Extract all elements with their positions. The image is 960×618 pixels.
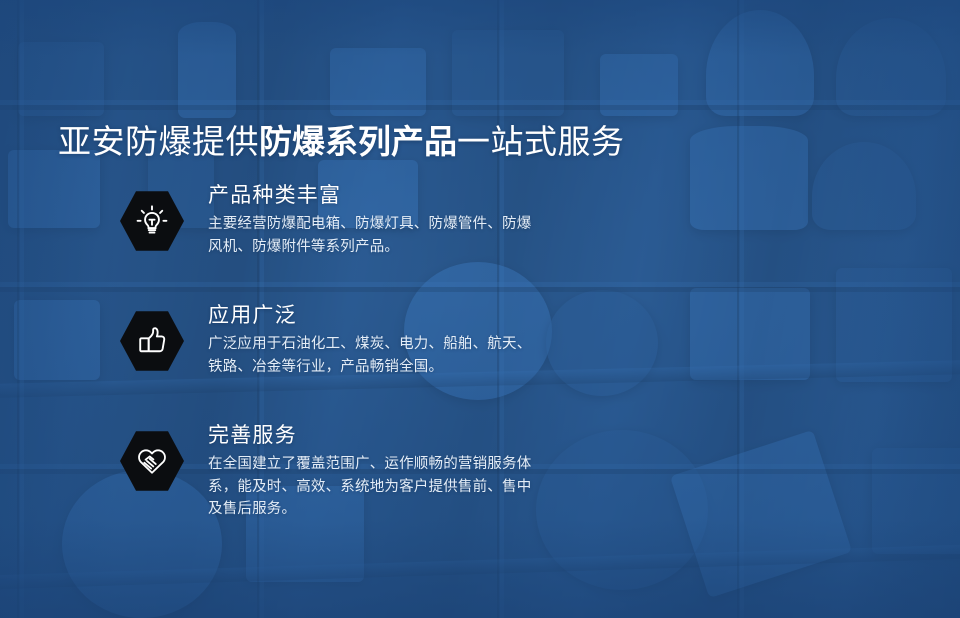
feature-description: 主要经营防爆配电箱、防爆灯具、防爆管件、防爆风机、防爆附件等系列产品。 — [208, 213, 538, 258]
banner-headline: 亚安防爆提供防爆系列产品一站式服务 — [58, 120, 625, 164]
hexagon-badge — [120, 310, 184, 372]
feature-icon-badge — [118, 298, 186, 368]
feature-description: 广泛应用于石油化工、煤炭、电力、船舶、航天、铁路、冶金等行业，产品畅销全国。 — [208, 333, 538, 378]
feature-description: 在全国建立了覆盖范围广、运作顺畅的营销服务体系，能及时、高效、系统地为客户提供售… — [208, 453, 538, 521]
feature-item-product-variety: 产品种类丰富 主要经营防爆配电箱、防爆灯具、防爆管件、防爆风机、防爆附件等系列产… — [118, 178, 588, 258]
feature-icon-badge — [118, 178, 186, 248]
feature-text: 产品种类丰富 主要经营防爆配电箱、防爆灯具、防爆管件、防爆风机、防爆附件等系列产… — [208, 178, 538, 258]
hexagon-badge — [120, 430, 184, 492]
hexagon-badge — [120, 190, 184, 252]
headline-emphasis: 防爆系列产品 — [259, 123, 457, 160]
thumbs-up-icon — [133, 322, 171, 360]
headline-lead: 亚安防爆提供 — [58, 123, 259, 160]
feature-item-wide-application: 应用广泛 广泛应用于石油化工、煤炭、电力、船舶、航天、铁路、冶金等行业，产品畅销… — [118, 298, 588, 378]
feature-title: 产品种类丰富 — [208, 182, 538, 209]
feature-title: 应用广泛 — [208, 302, 538, 329]
feature-text: 完善服务 在全国建立了覆盖范围广、运作顺畅的营销服务体系，能及时、高效、系统地为… — [208, 418, 538, 521]
feature-icon-badge — [118, 418, 186, 488]
lightbulb-icon — [133, 202, 171, 240]
feature-text: 应用广泛 广泛应用于石油化工、煤炭、电力、船舶、航天、铁路、冶金等行业，产品畅销… — [208, 298, 538, 378]
feature-title: 完善服务 — [208, 422, 538, 449]
feature-item-complete-service: 完善服务 在全国建立了覆盖范围广、运作顺畅的营销服务体系，能及时、高效、系统地为… — [118, 418, 588, 521]
banner-content: 亚安防爆提供防爆系列产品一站式服务 产品种类丰富 — [0, 0, 960, 618]
heart-handshake-icon — [133, 442, 171, 480]
feature-list: 产品种类丰富 主要经营防爆配电箱、防爆灯具、防爆管件、防爆风机、防爆附件等系列产… — [118, 178, 588, 521]
promo-banner: 亚安防爆提供防爆系列产品一站式服务 产品种类丰富 — [0, 0, 960, 618]
headline-tail: 一站式服务 — [457, 123, 625, 160]
